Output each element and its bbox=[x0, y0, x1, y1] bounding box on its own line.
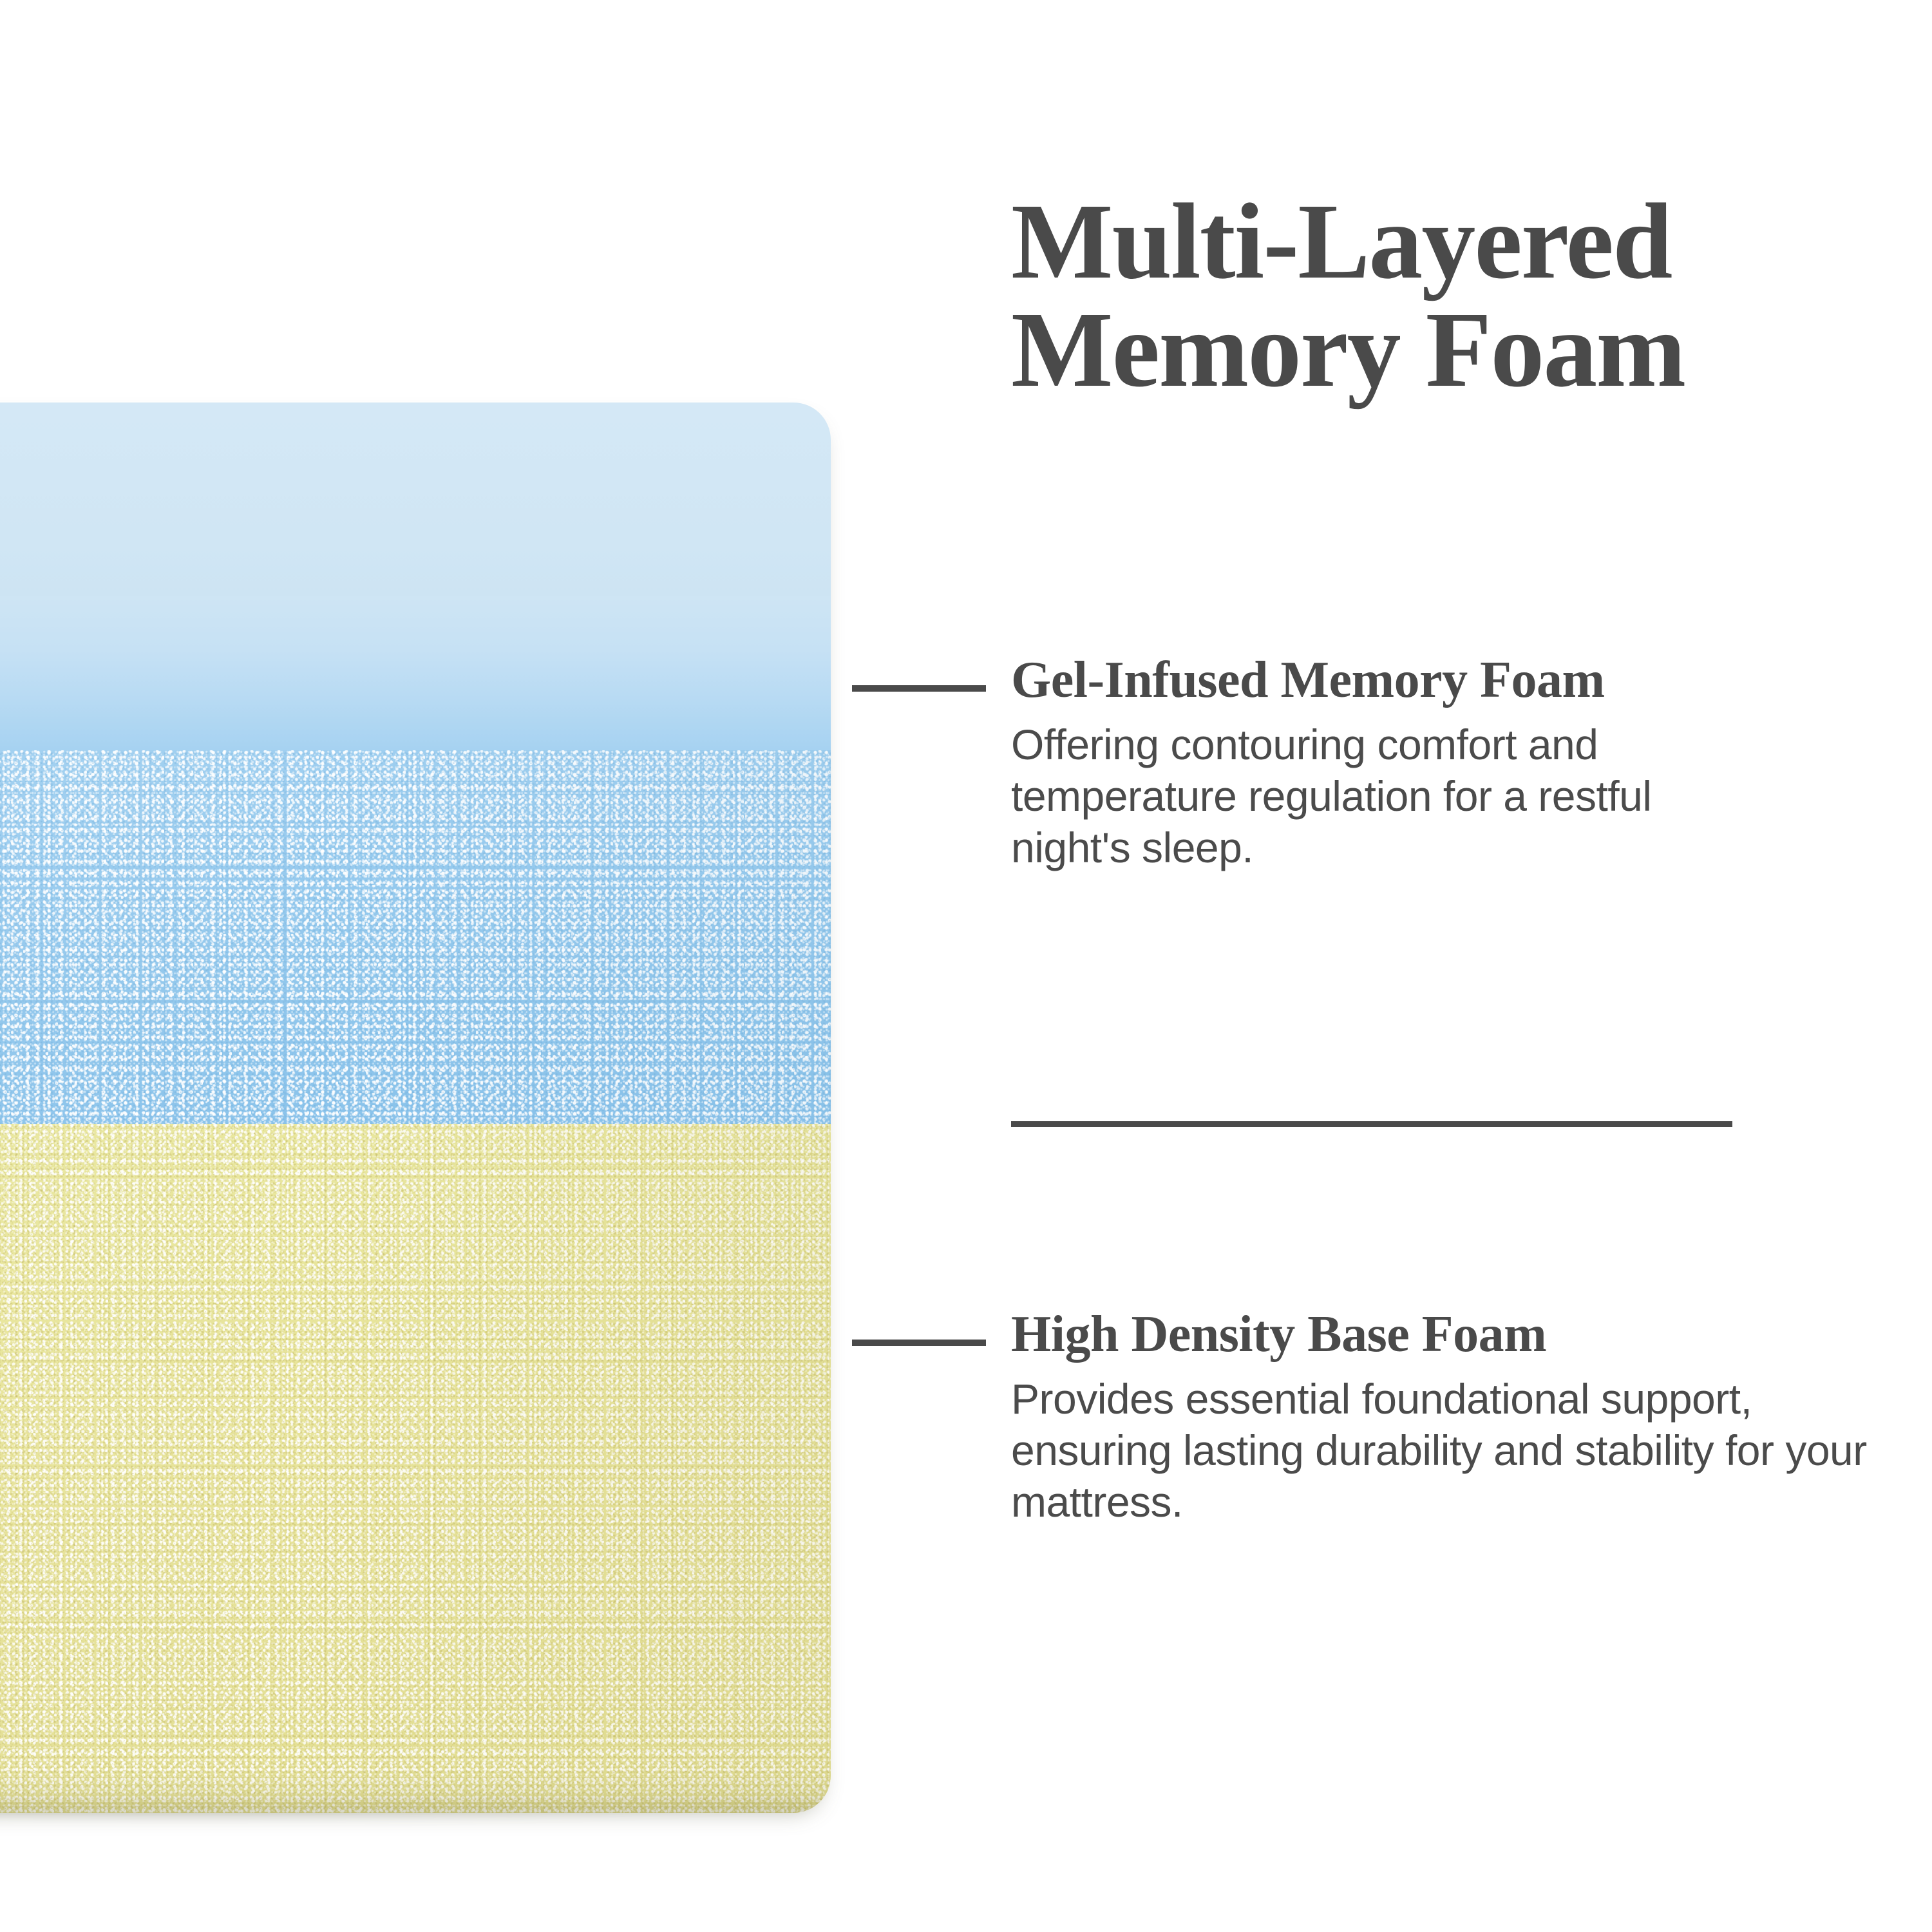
page-title: Multi-Layered Memory Foam bbox=[1011, 187, 1842, 404]
callout-heading: High Density Base Foam bbox=[1011, 1306, 1848, 1363]
callout-body: Offering contouring comfort and temperat… bbox=[1011, 719, 1771, 873]
callout-heading: Gel-Infused Memory Foam bbox=[1011, 652, 1848, 708]
callout-high-density-base-foam: High Density Base Foam Provides essentia… bbox=[1011, 1306, 1848, 1528]
foam-layer-gel-infused-memory-foam bbox=[0, 750, 831, 1124]
content-column: Multi-Layered Memory Foam Gel-Infused Me… bbox=[1011, 0, 1913, 1932]
infographic-canvas: Multi-Layered Memory Foam Gel-Infused Me… bbox=[0, 0, 1932, 1932]
foam-layer-gel-edge-fade bbox=[0, 596, 831, 750]
callout-gel-infused-memory-foam: Gel-Infused Memory Foam Offering contour… bbox=[1011, 652, 1848, 873]
section-divider bbox=[1011, 1121, 1732, 1127]
foam-layer-gel-top-face bbox=[0, 402, 831, 596]
leader-line-icon bbox=[852, 685, 986, 692]
foam-base-shading bbox=[0, 1124, 831, 1813]
foam-gel-shading bbox=[0, 750, 831, 1124]
foam-layer-high-density-base-foam bbox=[0, 1124, 831, 1813]
foam-block-image bbox=[0, 402, 831, 1813]
callout-body: Provides essential foundational support,… bbox=[1011, 1373, 1868, 1528]
leader-line-icon bbox=[852, 1340, 986, 1346]
